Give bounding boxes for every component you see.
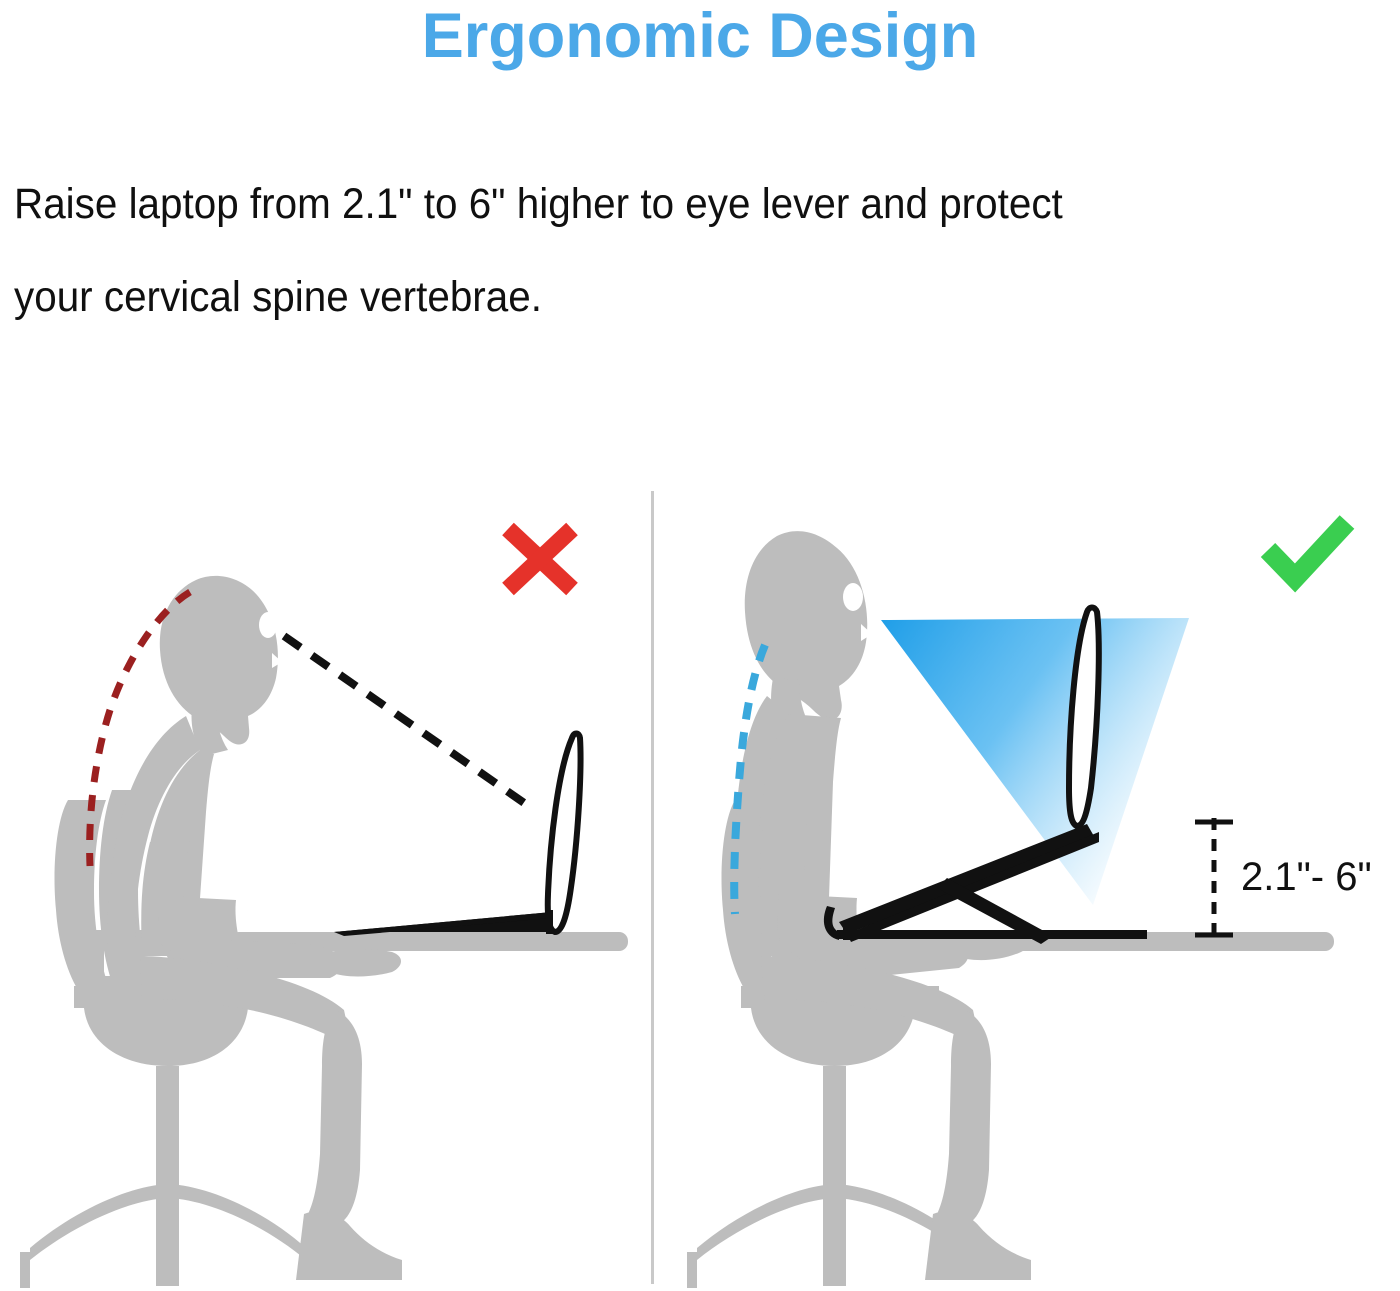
sight-line-incorrect: [284, 636, 530, 807]
ergonomic-design-infographic: Ergonomic Design Raise laptop from 2.1" …: [0, 0, 1400, 1291]
height-dimension-indicator: [1195, 818, 1233, 939]
correct-posture-panel: 2.1"- 6": [655, 470, 1400, 1291]
eye: [843, 583, 863, 611]
height-dimension-label: 2.1"- 6": [1241, 855, 1372, 899]
green-check-mark: [1268, 522, 1347, 578]
panel-divider: [651, 491, 654, 1284]
page-title: Ergonomic Design: [0, 0, 1400, 72]
incorrect-posture-panel: [0, 470, 650, 1291]
description-line-1: Raise laptop from 2.1" to 6" higher to e…: [14, 158, 1283, 251]
laptop-flat: [334, 734, 581, 937]
page-description: Raise laptop from 2.1" to 6" higher to e…: [14, 158, 1283, 344]
red-x-mark: [508, 529, 572, 589]
seated-person-figure: [107, 576, 402, 1280]
description-line-2: your cervical spine vertebrae.: [14, 251, 1283, 344]
eye: [259, 612, 277, 638]
